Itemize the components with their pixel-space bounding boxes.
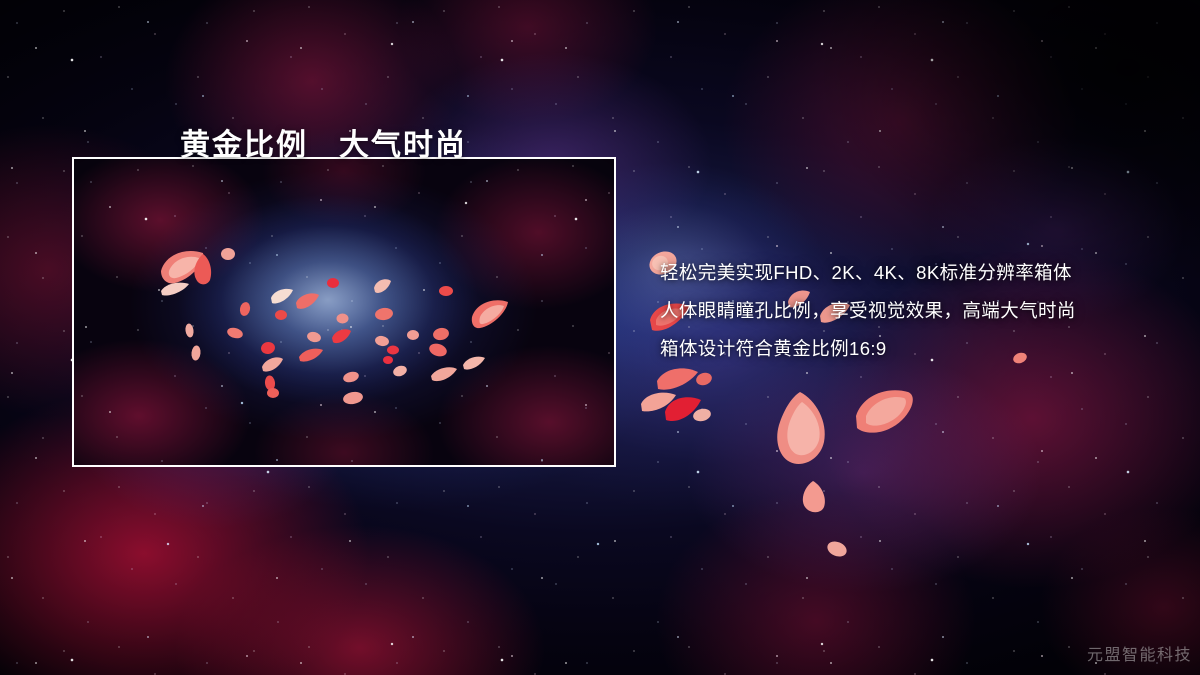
body-line-3: 箱体设计符合黄金比例16:9 [660,330,1180,368]
body-copy: 轻松完美实现FHD、2K、4K、8K标准分辨率箱体 人体眼睛瞳孔比例，享受视觉效… [660,254,1180,368]
petal-decoration [826,540,848,558]
preview-frame-inner [74,159,614,465]
petal-decoration [656,365,700,393]
preview-nebula-image [74,159,614,465]
petal-decoration [800,480,828,514]
presentation-slide: 黄金比例 大气时尚 轻松完美实现FHD、2K、4K、8K标准分辨率箱体 人体眼睛… [0,0,1200,675]
petal-decoration [640,390,678,414]
petal-decoration [695,372,713,386]
petal-decoration [772,390,834,468]
preview-image-frame[interactable] [72,157,616,467]
petal-decoration [692,408,712,423]
watermark: 元盟智能科技 [1087,641,1192,665]
body-line-1: 轻松完美实现FHD、2K、4K、8K标准分辨率箱体 [660,254,1180,292]
petal-decoration [663,394,703,424]
page-title: 黄金比例 大气时尚 [180,120,467,164]
body-line-2: 人体眼睛瞳孔比例，享受视觉效果，高端大气时尚 [660,292,1180,330]
petal-decoration [852,386,918,436]
